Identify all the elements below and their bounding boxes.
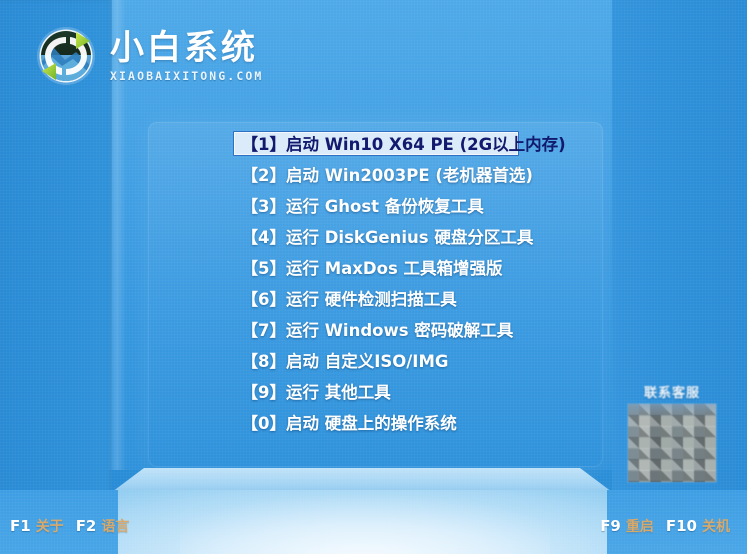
boot-menu-item-1[interactable]: 【1】启动 Win10 X64 PE (2G以上内存) <box>233 131 519 156</box>
hint-key-f9: F9 <box>600 517 621 535</box>
function-key-hints-left: F1关于F2语言 <box>10 516 136 536</box>
hint-label-f10: 关机 <box>702 516 730 536</box>
boot-menu-panel: 【1】启动 Win10 X64 PE (2G以上内存)【2】启动 Win2003… <box>148 122 603 467</box>
boot-menu-item-6[interactable]: 【6】运行 硬件检测扫描工具 <box>233 286 519 311</box>
boot-menu-item-2[interactable]: 【2】启动 Win2003PE (老机器首选) <box>233 162 519 187</box>
hint-key-f10: F10 <box>666 517 697 535</box>
boot-menu-item-7[interactable]: 【7】运行 Windows 密码破解工具 <box>233 317 519 342</box>
brand-logo-text: 小白系统 XIAOBAIXITONG.COM <box>110 29 263 84</box>
support-widget[interactable]: 联系客服 <box>628 382 716 482</box>
boot-menu-item-3[interactable]: 【3】运行 Ghost 备份恢复工具 <box>233 193 519 218</box>
boot-menu-item-4[interactable]: 【4】运行 DiskGenius 硬盘分区工具 <box>233 224 519 249</box>
hint-f1[interactable]: F1关于 <box>10 516 64 536</box>
hint-label-f9: 重启 <box>626 516 654 536</box>
hint-f2[interactable]: F2语言 <box>76 516 130 536</box>
boot-menu-item-0[interactable]: 【0】启动 硬盘上的操作系统 <box>233 410 519 435</box>
recycle-arrows-globe-logo-icon <box>32 22 100 90</box>
hint-label-f2: 语言 <box>101 516 129 536</box>
boot-menu-item-9[interactable]: 【9】运行 其他工具 <box>233 379 519 404</box>
brand-name-cn: 小白系统 <box>110 31 263 67</box>
hint-label-f1: 关于 <box>36 516 64 536</box>
hint-key-f1: F1 <box>10 517 31 535</box>
function-key-hints-right: F9重启F10关机 <box>600 516 737 536</box>
brand-name-en: XIAOBAIXITONG.COM <box>110 69 263 83</box>
pe-boot-menu-screen: 小白系统 XIAOBAIXITONG.COM 【1】启动 Win10 X64 P… <box>0 0 747 554</box>
hint-key-f2: F2 <box>76 517 97 535</box>
boot-menu-item-5[interactable]: 【5】运行 MaxDos 工具箱增强版 <box>233 255 519 280</box>
boot-menu-item-8[interactable]: 【8】启动 自定义ISO/IMG <box>233 348 519 373</box>
brand-logo: 小白系统 XIAOBAIXITONG.COM <box>32 22 263 90</box>
hint-f9[interactable]: F9重启 <box>600 516 654 536</box>
support-label: 联系客服 <box>628 382 716 401</box>
support-qr-mosaic-tint <box>628 404 716 418</box>
boot-menu-list: 【1】启动 Win10 X64 PE (2G以上内存)【2】启动 Win2003… <box>148 131 603 441</box>
hint-f10[interactable]: F10关机 <box>666 516 730 536</box>
